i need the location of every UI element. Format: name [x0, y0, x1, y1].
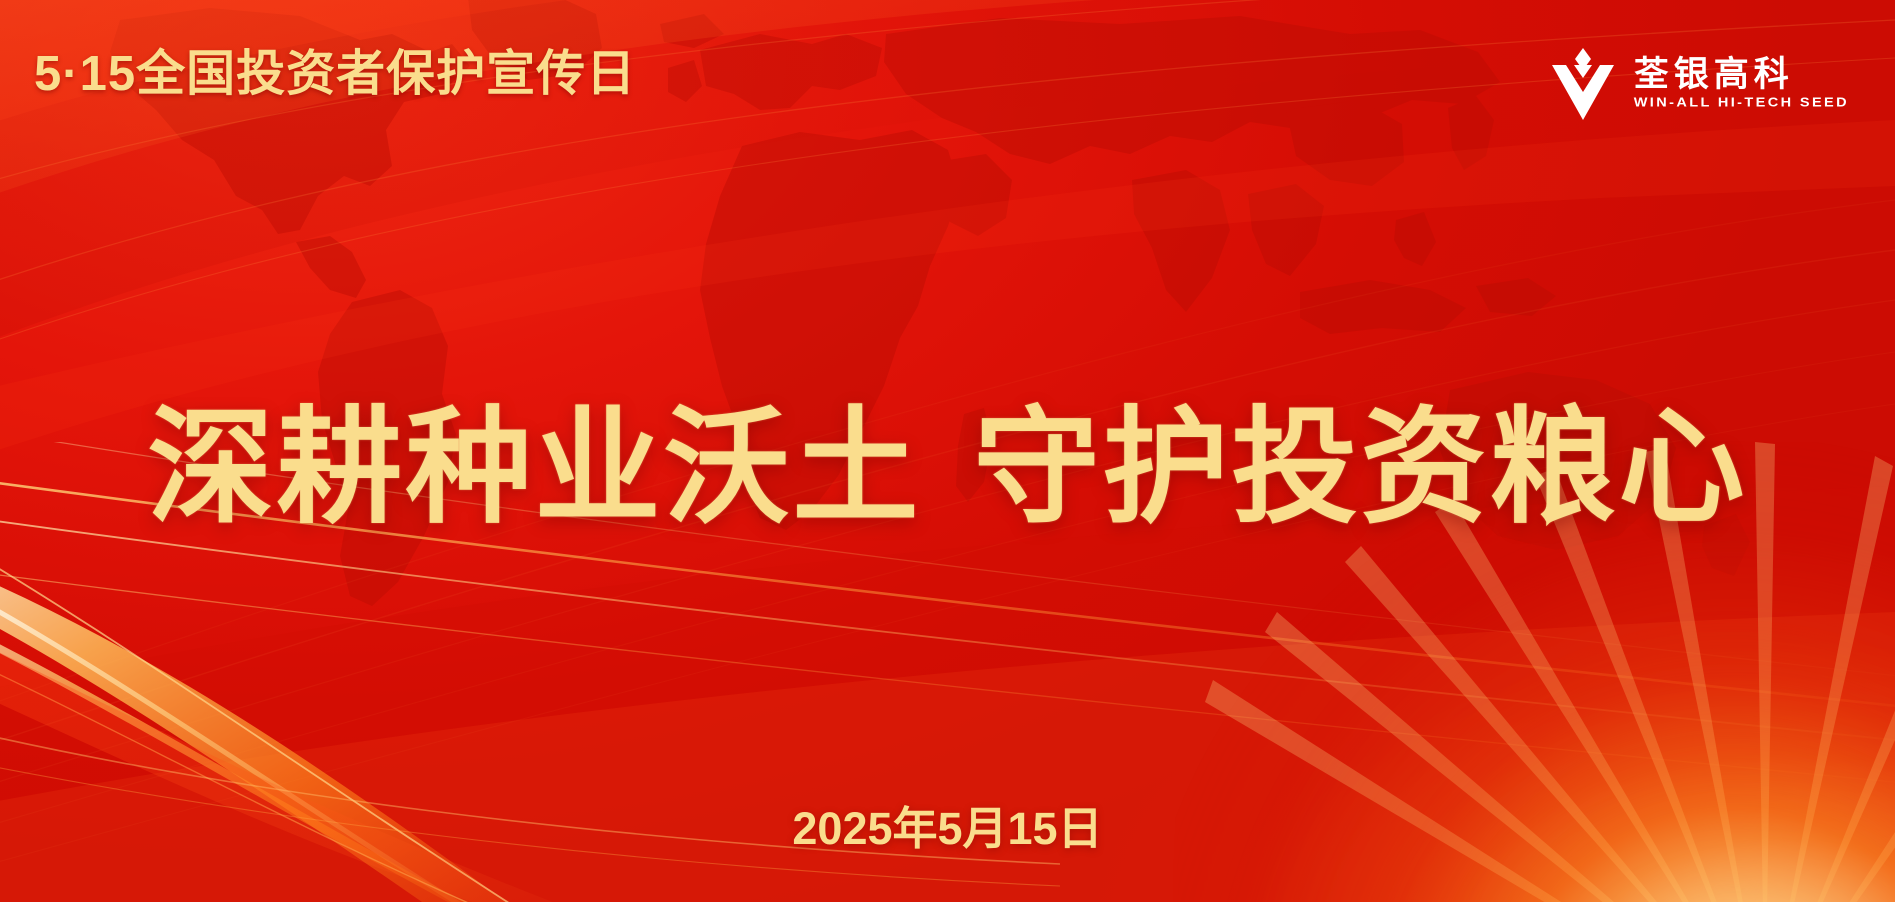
campaign-label: 5·15全国投资者保护宣传日	[34, 50, 636, 99]
main-title-part2: 守护投资粮心	[974, 400, 1748, 536]
win-all-chevron-icon	[1552, 48, 1614, 120]
investor-protection-poster: 5·15全国投资者保护宣传日 荃银高科 WIN-ALL HI-TECH SEED…	[0, 0, 1895, 902]
main-title: 深耕种业沃土守护投资粮心	[0, 400, 1895, 536]
campaign-header: 5·15全国投资者保护宣传日	[34, 50, 636, 99]
logo-company-cn: 荃银高科	[1634, 57, 1849, 92]
main-title-part1: 深耕种业沃土	[148, 400, 922, 536]
logo-company-en: WIN-ALL HI-TECH SEED	[1634, 97, 1849, 110]
company-logo[interactable]: 荃银高科 WIN-ALL HI-TECH SEED	[1552, 48, 1849, 120]
logo-wordmark: 荃银高科 WIN-ALL HI-TECH SEED	[1634, 57, 1849, 111]
event-date-text: 2025年5月15日	[792, 806, 1102, 851]
event-date: 2025年5月15日	[0, 806, 1895, 851]
